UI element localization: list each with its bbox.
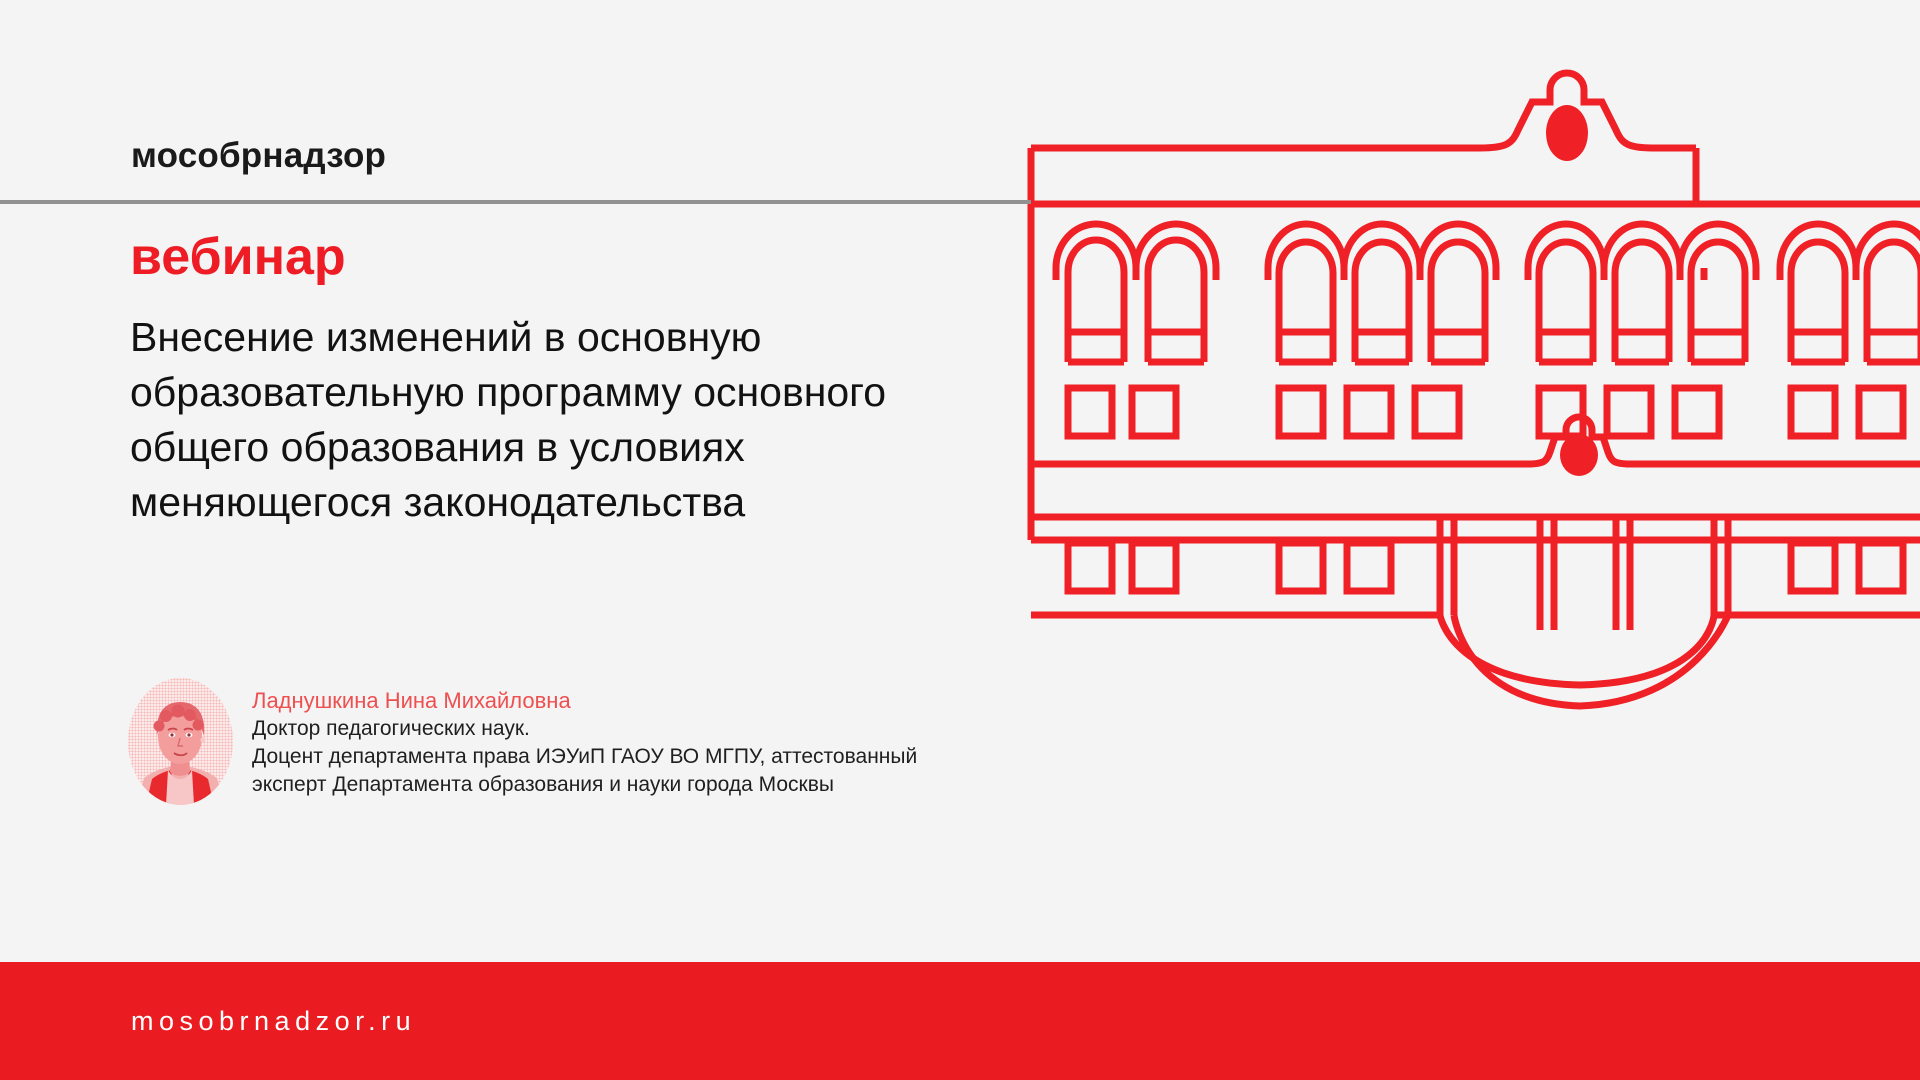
brand-wordmark: мособрнадзор xyxy=(131,136,386,176)
site-url[interactable]: mosobrnadzor.ru xyxy=(131,1006,416,1037)
slide-root: мособрнадзор вебинар Внесение изменений … xyxy=(0,0,1920,1080)
building-illustration xyxy=(1020,30,1920,720)
webinar-kicker: вебинар xyxy=(130,231,346,283)
title-line-4: меняющегося законодательства xyxy=(130,475,1010,530)
title-line-2: образовательную программу основного xyxy=(130,365,1010,420)
speaker-name: Ладнушкина Нина Михайловна xyxy=(252,686,917,715)
title-line-3: общего образования в условиях xyxy=(130,420,1010,475)
header-divider xyxy=(0,200,1031,204)
speaker-credential-2: Доцент департамента права ИЭУиП ГАОУ ВО … xyxy=(252,743,917,771)
speaker-details: Ладнушкина Нина Михайловна Доктор педаго… xyxy=(252,678,917,799)
avatar xyxy=(128,678,233,805)
page-title: Внесение изменений в основную образовате… xyxy=(130,310,1010,530)
title-line-1: Внесение изменений в основную xyxy=(130,310,1010,365)
speaker-block: Ладнушкина Нина Михайловна Доктор педаго… xyxy=(128,678,917,805)
speaker-credential-1: Доктор педагогических наук. xyxy=(252,715,917,743)
footer-bar: mosobrnadzor.ru xyxy=(0,962,1920,1080)
speaker-credential-3: эксперт Департамента образования и науки… xyxy=(252,771,917,799)
